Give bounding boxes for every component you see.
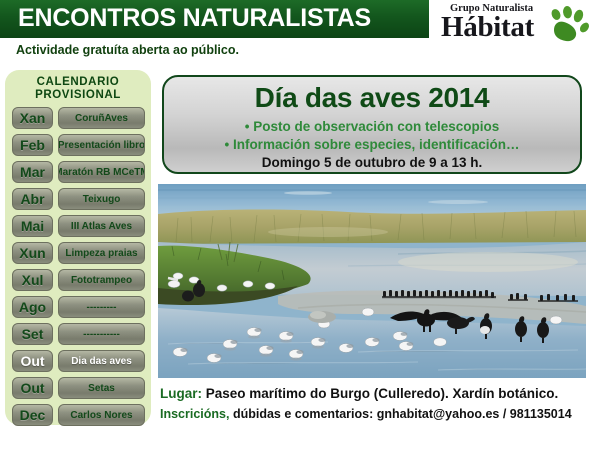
calendar-heading-line-2: PROVISIONAL [5,89,151,102]
calendar-heading-line-1: CALENDARIO [5,76,151,89]
venue-line: Lugar: Paseo marítimo do Burgo (Cullered… [160,386,595,401]
poster-canvas: ENCONTROS NATURALISTAS Actividade gratuí… [0,0,600,450]
calendar-event-chip: Presentación libro [58,134,145,156]
calendar-row[interactable]: XulFototrampeo [12,269,145,291]
contact-label: Inscricións, [160,407,229,421]
calendar-row[interactable]: DecCarlos Nores [12,404,145,426]
calendar-month-chip: Abr [12,188,53,210]
calendar-month-chip: Feb [12,134,53,156]
event-title: Día das aves 2014 [164,82,580,114]
calendar-event-chip: Fototrampeo [58,269,145,291]
calendar-event-chip: Maratón RB MCeTM [58,161,145,183]
calendar-event-chip: Carlos Nores [58,404,145,426]
calendar-month-chip: Set [12,323,53,345]
calendar-row[interactable]: MarMaratón RB MCeTM [12,161,145,183]
page-title: ENCONTROS NATURALISTAS [18,4,371,33]
calendar-row[interactable]: OutSetas [12,377,145,399]
calendar-month-chip: Xul [12,269,53,291]
brand-logo: Grupo Naturalista Hábitat [440,2,598,52]
calendar-event-chip: III Atlas Aves [58,215,145,237]
contact-line: Inscricións, dúbidas e comentarios: gnha… [160,407,595,421]
calendar-row[interactable]: MaiIII Atlas Aves [12,215,145,237]
calendar-month-chip: Xun [12,242,53,264]
calendar-rows: XanCoruñAvesFebPresentación libroMarMara… [12,107,145,431]
header-bar: ENCONTROS NATURALISTAS [0,0,429,38]
event-highlight-box: Día das aves 2014 • Posto de observación… [162,75,582,174]
venue-value: Paseo marítimo do Burgo (Culleredo). Xar… [202,386,558,401]
venue-label: Lugar: [160,386,202,401]
calendar-row[interactable]: AbrTeixugo [12,188,145,210]
calendar-event-chip: ----------- [58,323,145,345]
estuary-wetland-with-birds-photo [158,184,586,378]
calendar-event-chip: Limpeza praias [58,242,145,264]
calendar-event-chip: CoruñAves [58,107,145,129]
calendar-month-chip: Out [12,377,53,399]
contact-value: dúbidas e comentarios: gnhabitat@yahoo.e… [229,407,571,421]
event-bullet-1: • Posto de observación con telescopios [164,119,580,134]
event-bullet-2: • Información sobre especies, identifica… [164,137,580,152]
calendar-month-chip: Dec [12,404,53,426]
calendar-month-chip: Out [12,350,53,372]
calendar-row[interactable]: Ago--------- [12,296,145,318]
calendar-row[interactable]: XunLimpeza praias [12,242,145,264]
calendar-event-chip: --------- [58,296,145,318]
calendar-panel: CALENDARIO PROVISIONAL XanCoruñAvesFebPr… [5,70,151,425]
calendar-month-chip: Mai [12,215,53,237]
header-subtitle: Actividade gratuíta aberta ao público. [16,43,239,57]
calendar-event-chip: Dia das aves [58,350,145,372]
calendar-event-chip: Setas [58,377,145,399]
calendar-row[interactable]: OutDia das aves [12,350,145,372]
calendar-month-chip: Ago [12,296,53,318]
calendar-row[interactable]: FebPresentación libro [12,134,145,156]
calendar-heading: CALENDARIO PROVISIONAL [5,76,151,102]
footer-info: Lugar: Paseo marítimo do Burgo (Cullered… [160,386,595,421]
logo-wordmark: Hábitat [441,11,534,44]
calendar-month-chip: Xan [12,107,53,129]
calendar-row[interactable]: XanCoruñAves [12,107,145,129]
calendar-month-chip: Mar [12,161,53,183]
calendar-event-chip: Teixugo [58,188,145,210]
paw-print-icon [545,6,591,51]
event-date-line: Domingo 5 de outubro de 9 a 13 h. [164,155,580,170]
calendar-row[interactable]: Set----------- [12,323,145,345]
